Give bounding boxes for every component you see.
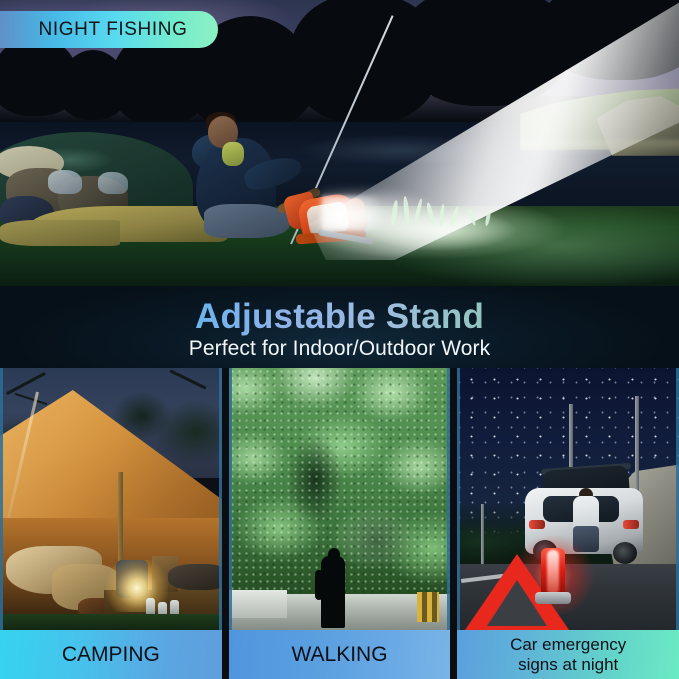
label-camping: CAMPING [0,630,222,679]
label-divider [450,630,457,679]
tail-light [529,520,545,529]
walking-photo [229,368,451,630]
panel-trim-left [229,368,232,630]
label-line-1: Car emergency [510,635,626,654]
label-car-emergency: Car emergency signs at night [457,630,679,679]
tail-light [623,520,639,529]
camp-duffel-bag [168,564,222,590]
night-fishing-badge-label: NIGHT FISHING [31,19,188,41]
light-beam-spread [320,120,580,250]
lantern-base [535,592,571,604]
page-title: Adjustable Stand [0,297,679,337]
product-infographic: NIGHT FISHING Adjustable Stand Perfect f… [0,0,679,679]
label-divider [222,630,229,679]
angler-collar [222,142,244,166]
hazard-post [417,592,439,622]
sleeping-mat [0,220,120,246]
panel-trim-left [0,368,3,630]
gear-highlight [98,172,128,194]
panel-trim-right [219,368,222,630]
lantern-red-beam [547,550,559,594]
light-beam-core [322,196,392,230]
walker-silhouette [321,556,345,628]
hero-image-night-fishing: NIGHT FISHING [0,0,679,286]
label-car-emergency-text: Car emergency signs at night [510,635,626,673]
low-wall [229,590,287,618]
panel-trim-right [447,368,450,630]
label-line-2: signs at night [518,655,618,674]
camp-ground-grass [0,614,222,630]
use-case-label-bar: CAMPING WALKING Car emergency signs at n… [0,630,679,679]
gear-highlight [48,170,82,194]
walker-head [328,548,340,561]
label-walking: WALKING [229,630,451,679]
night-fishing-badge: NIGHT FISHING [0,11,218,48]
page-subtitle: Perfect for Indoor/Outdoor Work [0,337,679,361]
car-emergency-photo [457,368,679,630]
camping-photo [0,368,222,630]
panel-trim-left [457,368,460,630]
